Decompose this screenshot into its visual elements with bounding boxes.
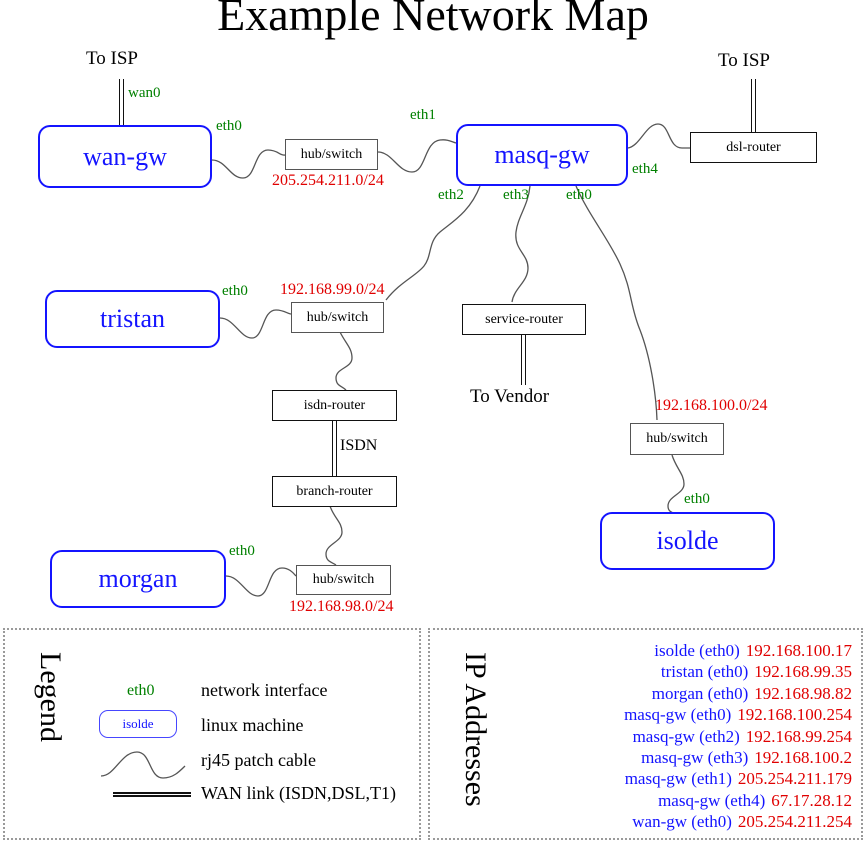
ip-host-label: masq-gw (eth2) (633, 726, 740, 747)
node-morgan[interactable]: morgan (50, 550, 226, 608)
ip-addresses-title: IP Addresses (458, 652, 492, 807)
node-branch-router[interactable]: branch-router (272, 476, 397, 507)
ip-address-value: 205.254.211.254 (738, 811, 852, 832)
wan-link-isdn (332, 420, 337, 476)
iface-morgan-eth0: eth0 (229, 543, 255, 560)
node-service-router[interactable]: service-router (462, 304, 586, 335)
ip-host-label: wan-gw (eth0) (632, 811, 732, 832)
node-dsl-router[interactable]: dsl-router (690, 132, 817, 163)
legend-label-interface: network interface (201, 680, 327, 701)
ip-host-label: masq-gw (eth1) (625, 768, 732, 789)
legend-panel: Legend eth0 network interface isolde lin… (3, 628, 421, 840)
ip-address-row: masq-gw (eth1)205.254.211.179 (494, 768, 852, 789)
legend-sample-interface: eth0 (127, 682, 155, 700)
ip-address-row: masq-gw (eth3)192.168.100.2 (494, 747, 852, 768)
node-hub-switch-isolde[interactable]: hub/switch (630, 423, 724, 455)
subnet-label-tristan: 192.168.99.0/24 (280, 281, 384, 299)
ip-host-label: masq-gw (eth3) (641, 747, 748, 768)
label-to-vendor: To Vendor (470, 386, 549, 408)
wan-link-to-isp-right (751, 79, 756, 132)
ip-address-value: 192.168.98.82 (754, 683, 852, 704)
legend-label-wan-link: WAN link (ISDN,DSL,T1) (201, 783, 396, 804)
ip-address-row: masq-gw (eth4)67.17.28.12 (494, 790, 852, 811)
iface-isolde-eth0: eth0 (684, 491, 710, 508)
node-wan-gw[interactable]: wan-gw (38, 125, 212, 188)
ip-address-row: wan-gw (eth0)205.254.211.254 (494, 811, 852, 832)
node-tristan[interactable]: tristan (45, 290, 220, 348)
label-to-isp-left: To ISP (86, 48, 138, 70)
ip-address-value: 192.168.100.17 (746, 640, 852, 661)
node-hub-switch-morgan[interactable]: hub/switch (296, 565, 391, 595)
ip-address-value: 192.168.100.254 (737, 704, 852, 725)
ip-host-label: tristan (eth0) (661, 661, 748, 682)
legend-label-linux-machine: linux machine (201, 715, 303, 736)
iface-wan-gw-wan0: wan0 (128, 85, 161, 102)
label-to-isp-right: To ISP (718, 50, 770, 72)
wan-link-to-vendor (521, 334, 526, 385)
ip-address-row: morgan (eth0)192.168.98.82 (494, 683, 852, 704)
iface-wan-gw-eth0: eth0 (216, 118, 242, 135)
ip-host-label: morgan (eth0) (652, 683, 748, 704)
iface-masq-gw-eth2: eth2 (438, 187, 464, 204)
ip-addresses-table: isolde (eth0)192.168.100.17tristan (eth0… (494, 640, 852, 833)
node-hub-switch-top[interactable]: hub/switch (285, 139, 378, 170)
node-isolde[interactable]: isolde (600, 512, 775, 570)
node-masq-gw[interactable]: masq-gw (456, 124, 628, 186)
legend-sample-linux-machine: isolde (99, 710, 177, 738)
ip-host-label: isolde (eth0) (654, 640, 739, 661)
legend-sample-rj45-cable (99, 748, 187, 780)
legend-sample-wan-link (113, 792, 191, 797)
ip-address-row: isolde (eth0)192.168.100.17 (494, 640, 852, 661)
ip-address-row: tristan (eth0)192.168.99.35 (494, 661, 852, 682)
legend-title: Legend (33, 652, 67, 742)
wan-link-to-isp-left (119, 79, 124, 127)
ip-address-value: 192.168.99.35 (754, 661, 852, 682)
iface-masq-gw-eth4: eth4 (632, 161, 658, 178)
node-isdn-router[interactable]: isdn-router (272, 390, 397, 421)
iface-masq-gw-eth3: eth3 (503, 187, 529, 204)
ip-address-value: 192.168.99.254 (746, 726, 852, 747)
subnet-label-top: 205.254.211.0/24 (272, 172, 384, 190)
iface-masq-gw-eth0: eth0 (566, 187, 592, 204)
iface-masq-gw-eth1: eth1 (410, 107, 436, 124)
node-hub-switch-tristan[interactable]: hub/switch (291, 302, 384, 333)
ip-host-label: masq-gw (eth4) (658, 790, 765, 811)
ip-address-row: masq-gw (eth0)192.168.100.254 (494, 704, 852, 725)
iface-tristan-eth0: eth0 (222, 283, 248, 300)
subnet-label-morgan: 192.168.98.0/24 (289, 598, 393, 616)
ip-address-value: 192.168.100.2 (754, 747, 852, 768)
legend-label-rj45-cable: rj45 patch cable (201, 750, 316, 771)
subnet-label-isolde: 192.168.100.0/24 (655, 397, 767, 415)
label-isdn: ISDN (340, 437, 377, 455)
ip-address-value: 67.17.28.12 (771, 790, 852, 811)
network-map-canvas: Example Network Map (0, 0, 866, 844)
ip-address-value: 205.254.211.179 (738, 768, 852, 789)
ip-host-label: masq-gw (eth0) (624, 704, 731, 725)
ip-address-row: masq-gw (eth2)192.168.99.254 (494, 726, 852, 747)
